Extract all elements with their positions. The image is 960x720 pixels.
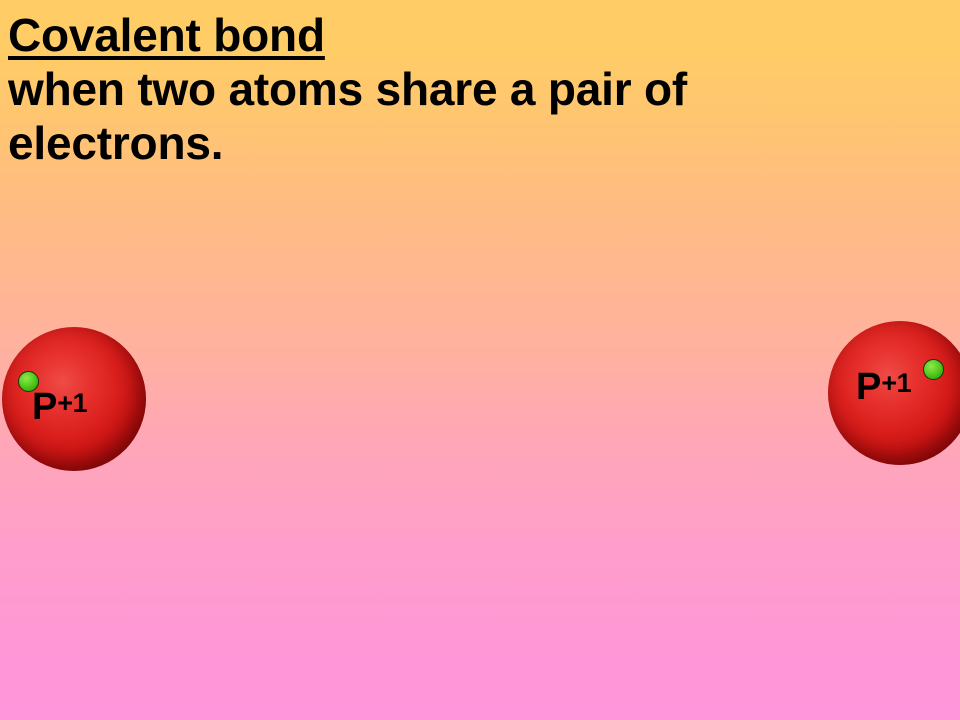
definition-line-1: when two atoms share a pair of [8,62,938,116]
atom-left-charge: +1 [57,388,87,418]
atom-left-symbol: P [32,386,57,428]
title-line-wrapper: Covalent bond [8,8,938,62]
atom-right-symbol: P [856,366,881,408]
atom-left: P+1 [2,327,146,471]
electron-dot-icon [923,359,944,380]
atom-right-label: P+1 [856,364,911,406]
page-title: Covalent bond [8,8,325,62]
slide-canvas: Covalent bond when two atoms share a pai… [0,0,960,720]
slide-text-block: Covalent bond when two atoms share a pai… [8,8,938,170]
atom-right-charge: +1 [881,368,911,398]
atom-right: P+1 [828,321,960,465]
atom-left-label: P+1 [32,384,87,426]
definition-line-2: electrons. [8,116,938,170]
